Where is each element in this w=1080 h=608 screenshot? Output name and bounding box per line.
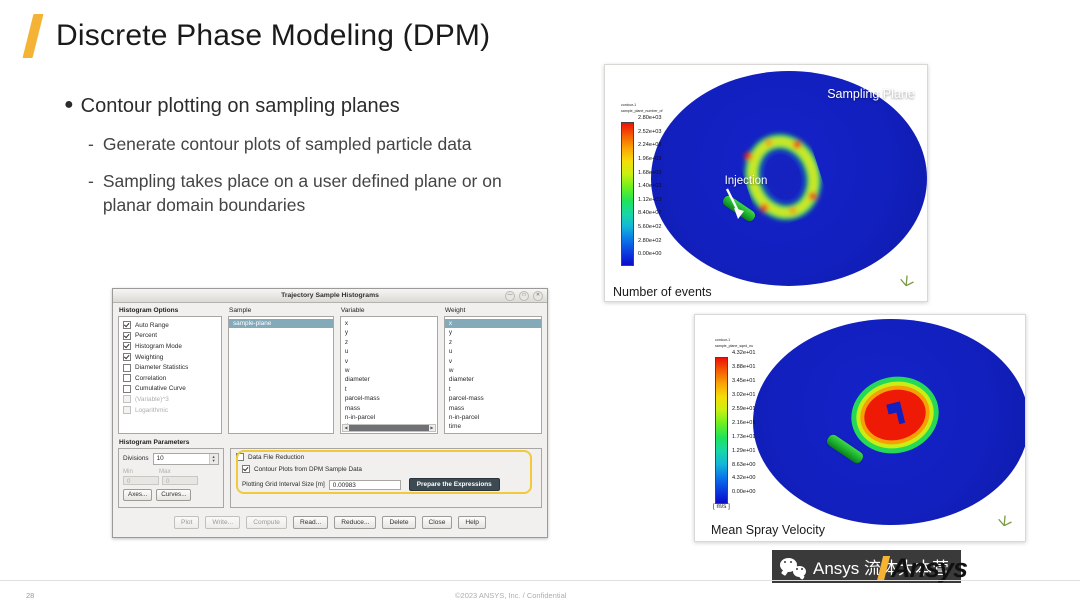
list-item[interactable]: y <box>341 328 437 337</box>
weight-listbox[interactable]: x y z u v w diameter t parcel-mass mass … <box>444 316 542 434</box>
list-item[interactable]: u <box>341 347 437 356</box>
weight-header: Weight <box>445 307 542 314</box>
colorbar-gradient <box>715 357 728 504</box>
colorbar-ticks: 4.32e+01 3.88e+01 3.45e+01 3.02e+01 2.59… <box>732 351 756 496</box>
colorbar-title-line1: contour-1 <box>715 338 730 342</box>
dialog-titlebar[interactable]: Trajectory Sample Histograms — □ ✕ <box>113 289 547 303</box>
wechat-icon <box>780 557 806 577</box>
bullet-level1-text: Contour plotting on sampling planes <box>81 94 400 119</box>
checkbox-cumulative-curve[interactable]: Cumulative Curve <box>123 384 217 395</box>
checkbox-data-file-reduction[interactable]: Data File Reduction <box>236 453 536 461</box>
colorbar-tick: 1.96e+03 <box>638 157 662 163</box>
list-item[interactable]: v <box>445 357 541 366</box>
checkbox-label: Percent <box>135 332 157 339</box>
delete-button[interactable]: Delete <box>382 516 415 529</box>
checkbox-icon <box>123 395 131 403</box>
list-item[interactable]: u <box>445 347 541 356</box>
close-icon[interactable]: ✕ <box>533 291 543 301</box>
annotation-sampling-plane: Sampling Plane <box>823 87 919 101</box>
list-item[interactable]: n-in-parcel <box>341 413 437 422</box>
colorbar-tick: 8.63e+00 <box>732 463 756 469</box>
checkbox-percent[interactable]: Percent <box>123 331 217 342</box>
list-item[interactable]: t <box>341 385 437 394</box>
slide-canvas: Discrete Phase Modeling (DPM) ● Contour … <box>0 0 1080 608</box>
checkbox-icon[interactable] <box>242 465 250 473</box>
min-label: Min <box>123 468 159 475</box>
list-item[interactable]: diameter <box>445 375 541 384</box>
axes-button[interactable]: Axes... <box>123 489 152 501</box>
bullet-level2-1-text: Generate contour plots of sampled partic… <box>103 132 472 156</box>
axes-triad-icon <box>897 271 919 293</box>
trajectory-sample-histograms-dialog[interactable]: Trajectory Sample Histograms — □ ✕ Histo… <box>112 288 548 538</box>
data-file-reduction-box: Data File Reduction Contour Plots from D… <box>230 448 542 508</box>
bullet-level1: ● Contour plotting on sampling planes <box>64 94 564 119</box>
colorbar-tick: 2.16e+01 <box>732 421 756 427</box>
colorbar-tick: 3.02e+01 <box>732 393 756 399</box>
colorbar-tick: 4.32e+01 <box>732 351 756 357</box>
figure-caption: Number of events <box>613 285 712 299</box>
divisions-row: Divisions 10 ▲▼ <box>123 453 219 465</box>
maximize-icon[interactable]: □ <box>519 291 529 301</box>
checkbox-auto-range[interactable]: Auto Range <box>123 320 217 331</box>
divisions-value[interactable]: 10 <box>154 455 209 462</box>
colorbar: 2.80e+03 2.52e+03 2.24e+03 1.96e+03 1.68… <box>621 122 681 264</box>
plot-button[interactable]: Plot <box>174 516 199 529</box>
checkbox-logarithmic: Logarithmic <box>123 405 217 416</box>
colorbar-tick: 4.32e+00 <box>732 476 756 482</box>
checkbox-variable-cubed: (Variable)^3 <box>123 394 217 405</box>
colorbar-title-line2: sample_plane_number_of <box>621 109 663 113</box>
grid-interval-row: Plotting Grid Interval Size [m] 0.00983 … <box>242 478 536 491</box>
list-item[interactable]: time <box>445 422 541 431</box>
checkbox-label: Diameter Statistics <box>135 364 188 371</box>
accent-slash-icon <box>23 14 44 58</box>
checkbox-label: Cumulative Curve <box>135 385 186 392</box>
list-item[interactable]: x <box>341 319 437 328</box>
grid-interval-input[interactable]: 0.00983 <box>329 480 401 490</box>
colorbar-tick: 2.80e+03 <box>638 116 662 122</box>
colorbar-tick: 3.88e+01 <box>732 365 756 371</box>
dialog-body: Histogram Options Auto Range Percent <box>113 303 547 538</box>
checkbox-icon[interactable] <box>236 453 244 461</box>
figure-mean-spray-velocity: 4.32e+01 3.88e+01 3.45e+01 3.02e+01 2.59… <box>694 314 1026 542</box>
colorbar: 4.32e+01 3.88e+01 3.45e+01 3.02e+01 2.59… <box>715 357 775 502</box>
bullet-level2-2-text: Sampling takes place on a user defined p… <box>103 169 551 217</box>
bullet-level2-1: - Generate contour plots of sampled part… <box>88 132 564 156</box>
checkbox-icon[interactable] <box>123 332 131 340</box>
list-item[interactable]: parcel-mass <box>445 394 541 403</box>
list-item[interactable]: n-in-parcel <box>445 413 541 422</box>
checkbox-diameter-statistics[interactable]: Diameter Statistics <box>123 362 217 373</box>
parameter-buttons: Axes... Curves... <box>123 489 219 501</box>
curves-button[interactable]: Curves... <box>156 489 191 501</box>
figure-canvas: 4.32e+01 3.88e+01 3.45e+01 3.02e+01 2.59… <box>695 315 1025 541</box>
checkbox-icon[interactable] <box>123 321 131 329</box>
dialog-lower-section: Histogram Parameters Divisions 10 ▲▼ Min… <box>118 439 542 508</box>
checkbox-icon[interactable] <box>123 342 131 350</box>
max-label: Max <box>159 468 195 475</box>
grid-interval-label: Plotting Grid Interval Size [m] <box>242 481 325 488</box>
bullet-dot-icon: ● <box>64 94 74 116</box>
list-item[interactable]: t <box>445 385 541 394</box>
histogram-parameters-group: Histogram Parameters Divisions 10 ▲▼ Min… <box>118 439 224 508</box>
prepare-expressions-button[interactable]: Prepare the Expressions <box>409 478 500 491</box>
list-item[interactable]: z <box>341 338 437 347</box>
checkbox-label: Data File Reduction <box>248 454 304 461</box>
list-item[interactable]: mass <box>341 404 437 413</box>
bullet-list: ● Contour plotting on sampling planes - … <box>64 94 564 217</box>
histogram-options-label: Histogram Options <box>119 307 222 314</box>
wechat-eye <box>801 568 803 570</box>
dialog-top-columns: Histogram Options Auto Range Percent <box>118 307 542 434</box>
list-item[interactable]: v <box>341 357 437 366</box>
footer-divider <box>0 580 1080 581</box>
checkbox-label: (Variable)^3 <box>135 396 169 403</box>
list-item[interactable]: mass <box>445 404 541 413</box>
list-item[interactable]: flow-time <box>341 432 437 434</box>
colorbar-tick: 8.40e+02 <box>638 211 662 217</box>
scrollbar-thumb[interactable] <box>349 425 429 431</box>
compute-button[interactable]: Compute <box>246 516 287 529</box>
read-button[interactable]: Read... <box>293 516 328 529</box>
colorbar-title-line2: sample_plane_sqed_nu <box>715 344 753 348</box>
stepper-arrows-icon[interactable]: ▲▼ <box>209 454 218 464</box>
list-item[interactable]: parcel-mass <box>341 394 437 403</box>
colorbar-tick: 2.52e+03 <box>638 130 662 136</box>
max-field: 0 <box>162 476 198 485</box>
list-item[interactable]: z <box>445 338 541 347</box>
colorbar-tick: 3.45e+01 <box>732 379 756 385</box>
histogram-options-box: Auto Range Percent Histogram Mode W <box>118 316 222 434</box>
copyright-text: ©2023 ANSYS, Inc. / Confidential <box>455 591 566 600</box>
min-field: 0 <box>123 476 159 485</box>
checkbox-label: Histogram Mode <box>135 343 182 350</box>
checkbox-label: Correlation <box>135 375 166 382</box>
list-item[interactable]: diameter <box>341 375 437 384</box>
variable-header: Variable <box>341 307 438 314</box>
variable-listbox[interactable]: x y z u v w diameter t parcel-mass mass … <box>340 316 438 434</box>
wechat-eye <box>796 568 798 570</box>
page-title: Discrete Phase Modeling (DPM) <box>28 14 490 58</box>
checkbox-icon[interactable] <box>123 374 131 382</box>
colorbar-units: [ m/s ] <box>713 503 730 510</box>
list-item[interactable]: w <box>445 366 541 375</box>
list-item[interactable]: x <box>445 319 541 328</box>
bullet-level2-2: - Sampling takes place on a user defined… <box>88 169 564 217</box>
colorbar-title-line1: contour-1 <box>621 103 636 107</box>
checkbox-label: Contour Plots from DPM Sample Data <box>254 466 362 473</box>
checkbox-label: Logarithmic <box>135 407 168 414</box>
list-item[interactable]: flow-time <box>445 432 541 434</box>
checkbox-weighting[interactable]: Weighting <box>123 352 217 363</box>
colorbar-tick: 1.29e+01 <box>732 449 756 455</box>
colorbar-tick: 0.00e+00 <box>638 252 662 258</box>
wechat-bubble-small <box>793 566 806 577</box>
figure-canvas: 2.80e+03 2.52e+03 2.24e+03 1.96e+03 1.68… <box>605 65 927 301</box>
divisions-stepper[interactable]: 10 ▲▼ <box>153 453 219 465</box>
page-number: 28 <box>26 591 34 600</box>
title-text: Discrete Phase Modeling (DPM) <box>56 19 490 53</box>
checkbox-icon <box>123 406 131 414</box>
axes-triad-icon <box>995 511 1017 533</box>
weight-group: Weight x y z u v w diameter t parcel-mas… <box>444 307 542 434</box>
colorbar-tick: 1.73e+01 <box>732 435 756 441</box>
figure-number-of-events: 2.80e+03 2.52e+03 2.24e+03 1.96e+03 1.68… <box>604 64 928 302</box>
divisions-label: Divisions <box>123 455 149 462</box>
window-controls[interactable]: — □ ✕ <box>505 291 543 301</box>
horizontal-scrollbar[interactable]: ◀ ▶ <box>342 424 436 432</box>
colorbar-tick: 1.12e+03 <box>638 198 662 204</box>
minimize-icon[interactable]: — <box>505 291 515 301</box>
help-button[interactable]: Help <box>458 516 486 529</box>
checkbox-label: Weighting <box>135 354 163 361</box>
checkbox-contour-plots-from-dpm[interactable]: Contour Plots from DPM Sample Data <box>242 465 536 473</box>
sample-listbox[interactable]: sample-plane <box>228 316 334 434</box>
colorbar-tick: 1.40e+03 <box>638 184 662 190</box>
sample-group: Sample sample-plane <box>228 307 334 434</box>
scroll-right-icon[interactable]: ▶ <box>429 425 435 431</box>
colorbar-tick: 2.59e+01 <box>732 407 756 413</box>
minmax-labels: Min Max <box>123 468 219 475</box>
dialog-title: Trajectory Sample Histograms <box>281 292 379 299</box>
colorbar-tick: 2.24e+03 <box>638 143 662 149</box>
dash-icon: - <box>88 169 94 193</box>
checkbox-label: Auto Range <box>135 322 169 329</box>
reduce-button[interactable]: Reduce... <box>334 516 376 529</box>
colorbar-gradient <box>621 122 634 266</box>
figure-caption: Mean Spray Velocity <box>711 523 825 537</box>
annotation-injection: Injection <box>703 175 789 188</box>
checkbox-icon[interactable] <box>123 364 131 372</box>
colorbar-tick: 5.60e+02 <box>638 225 662 231</box>
colorbar-tick: 1.68e+03 <box>638 171 662 177</box>
write-button[interactable]: Write... <box>205 516 240 529</box>
list-item[interactable]: y <box>445 328 541 337</box>
histogram-options-group: Histogram Options Auto Range Percent <box>118 307 222 434</box>
data-file-reduction-wrap: . Data File Reduction Contour Plots from… <box>230 439 542 508</box>
histogram-parameters-box: Divisions 10 ▲▼ Min Max 0 0 <box>118 448 224 508</box>
dialog-button-bar: Plot Write... Compute Read... Reduce... … <box>118 516 542 529</box>
colorbar-tick: 0.00e+00 <box>732 490 756 496</box>
histogram-parameters-label: Histogram Parameters <box>119 439 224 446</box>
checkbox-icon[interactable] <box>123 353 131 361</box>
colorbar-tick: 2.80e+02 <box>638 239 662 245</box>
variable-group: Variable x y z u v w diameter t parcel-m… <box>340 307 438 434</box>
checkbox-correlation[interactable]: Correlation <box>123 373 217 384</box>
checkbox-icon[interactable] <box>123 385 131 393</box>
minmax-fields: 0 0 <box>123 476 219 485</box>
checkbox-histogram-mode[interactable]: Histogram Mode <box>123 341 217 352</box>
list-item[interactable]: sample-plane <box>229 319 333 328</box>
list-item[interactable]: w <box>341 366 437 375</box>
sample-header: Sample <box>229 307 334 314</box>
colorbar-ticks: 2.80e+03 2.52e+03 2.24e+03 1.96e+03 1.68… <box>638 116 662 258</box>
dash-icon: - <box>88 132 94 156</box>
close-button[interactable]: Close <box>422 516 453 529</box>
